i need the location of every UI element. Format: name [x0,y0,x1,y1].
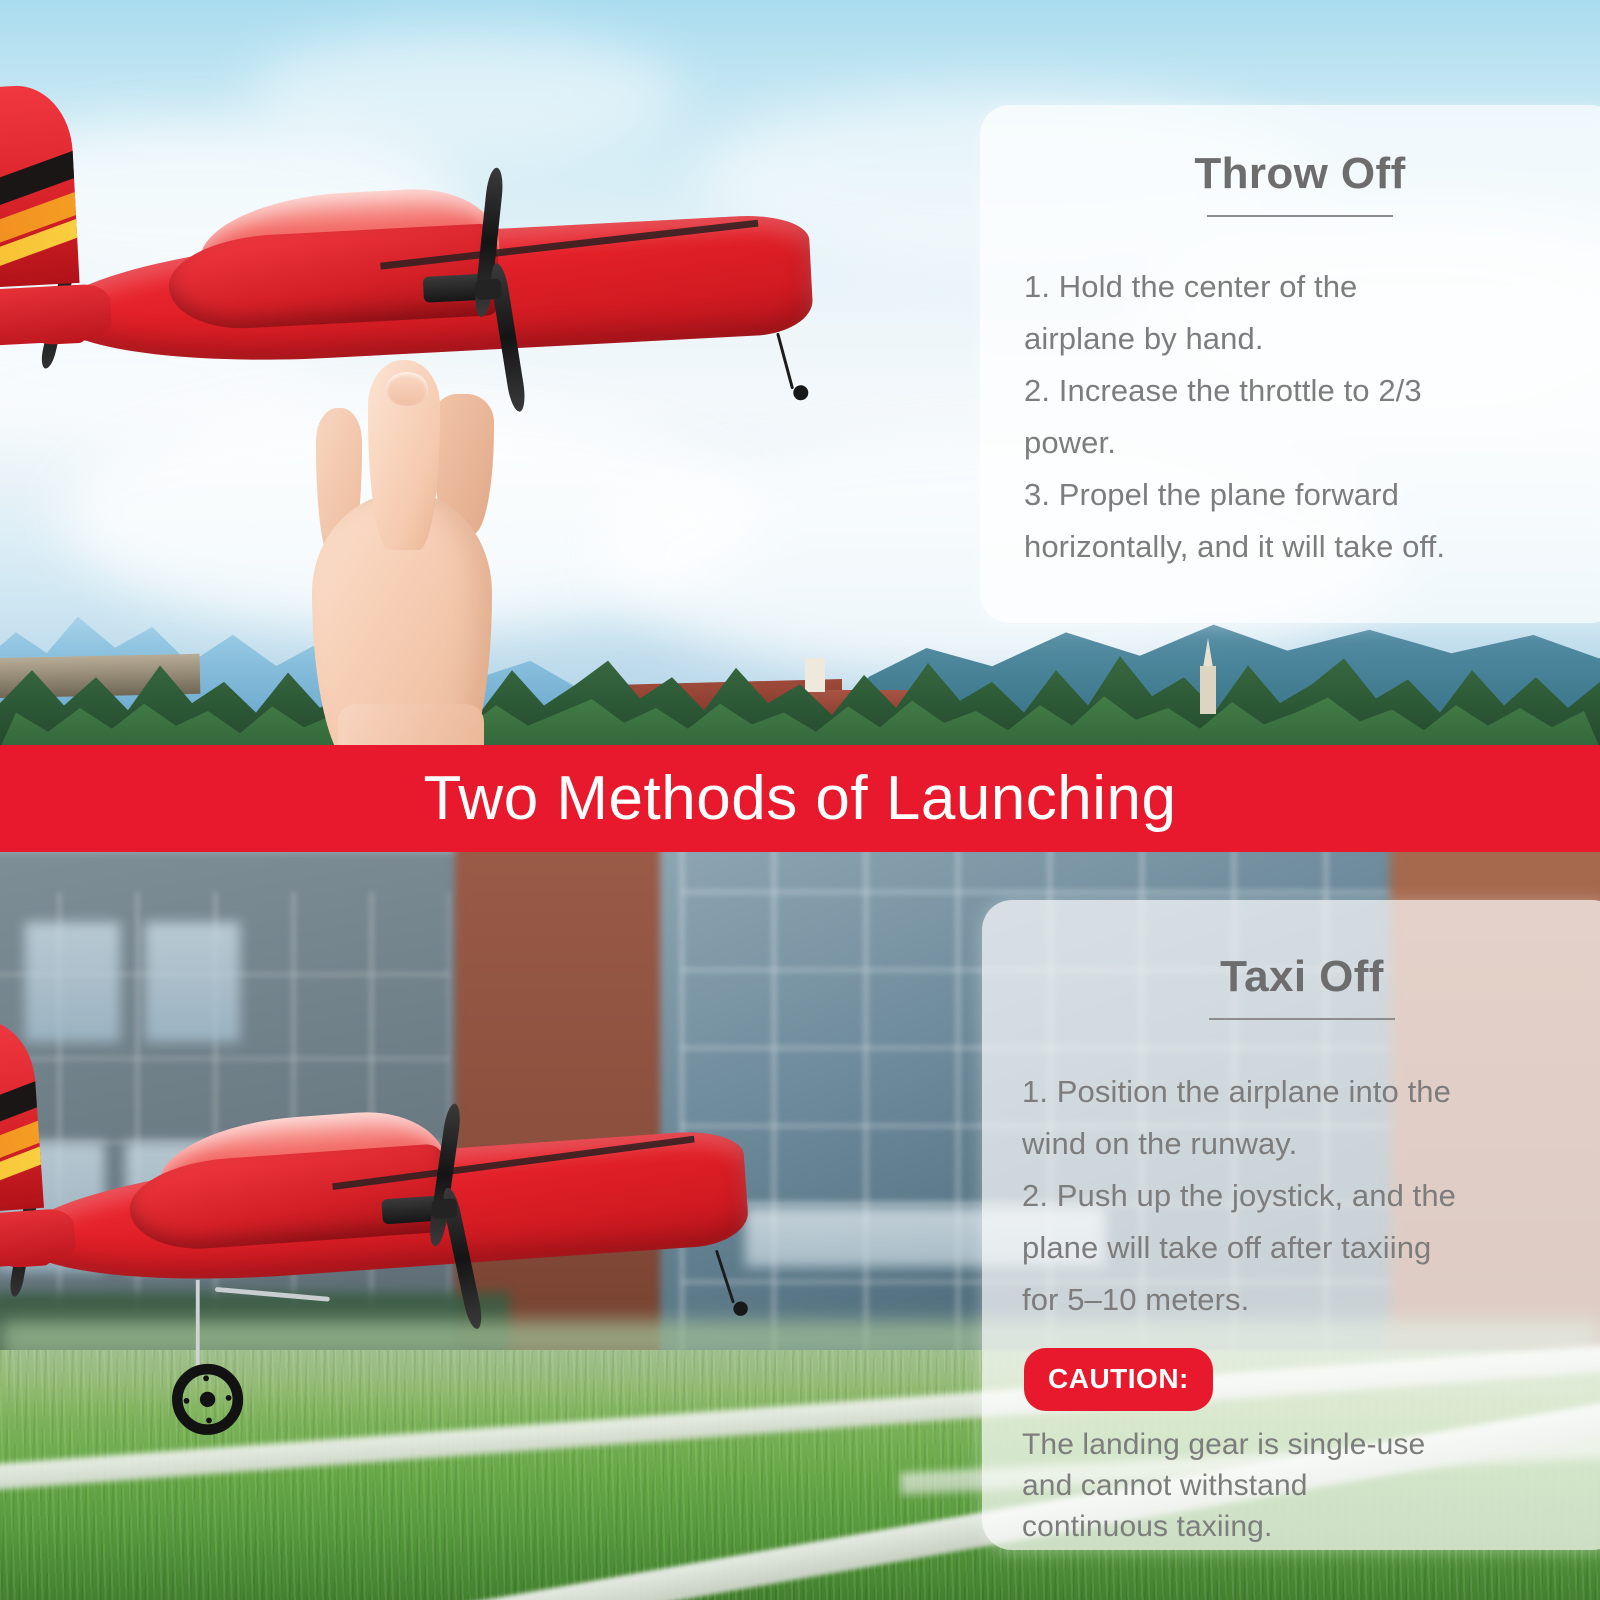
brick-building [455,852,685,1362]
rc-airplane-in-hand [49,252,68,371]
taxi-off-steps: 1. Position the airplane into the wind o… [1022,1066,1582,1548]
title-divider [1209,1018,1395,1020]
section-banner: Two Methods of Launching [0,745,1600,852]
lit-window [145,922,240,1042]
throw-off-card: Throw Off 1. Hold the center of the airp… [980,105,1600,623]
throw-off-step-line: airplane by hand. [1024,313,1572,365]
human-hand [272,352,572,752]
rc-airplane-on-ground [14,1178,35,1298]
caution-badge: CAUTION: [1024,1348,1213,1411]
taxi-off-step-line: plane will take off after taxiing [1022,1222,1582,1274]
landing-gear-strut [196,1280,200,1376]
cloud-shape [250,30,680,160]
propeller-hub [475,279,502,300]
taxi-off-card: Taxi Off 1. Position the airplane into t… [982,900,1600,1550]
thumbnail [386,372,428,406]
taxi-off-step-line: for 5–10 meters. [1022,1274,1582,1326]
chimney [805,658,825,692]
taxi-off-step-line: 2. Push up the joystick, and the [1022,1170,1582,1222]
church-steeple [1196,638,1220,714]
taxi-off-step-line: 1. Position the airplane into the [1022,1066,1582,1118]
throw-off-step-line: 3. Propel the plane forward [1024,469,1572,521]
throw-off-step-line: 2. Increase the throttle to 2/3 [1024,365,1572,417]
taxi-off-step-line: wind on the runway. [1022,1118,1582,1170]
throw-off-step-line: power. [1024,417,1572,469]
propeller-hub [431,1198,457,1219]
caution-line: continuous taxiing. [1022,1507,1582,1548]
throw-off-steps: 1. Hold the center of the airplane by ha… [1024,261,1572,573]
product-infographic: Throw Off 1. Hold the center of the airp… [0,0,1600,1600]
throw-off-title: Throw Off [980,149,1600,199]
banner-title: Two Methods of Launching [423,763,1176,834]
lit-window [25,922,120,1042]
throw-off-step-line: 1. Hold the center of the [1024,261,1572,313]
taxi-off-title: Taxi Off [982,952,1600,1002]
caution-line: The landing gear is single-use [1022,1425,1582,1466]
steeple-spire [1203,638,1213,668]
title-divider [1207,215,1393,217]
caution-text: The landing gear is single-use and canno… [1022,1425,1582,1547]
caution-line: and cannot withstand [1022,1466,1582,1507]
steeple-tower [1200,666,1216,714]
throw-off-step-line: horizontally, and it will take off. [1024,521,1572,573]
